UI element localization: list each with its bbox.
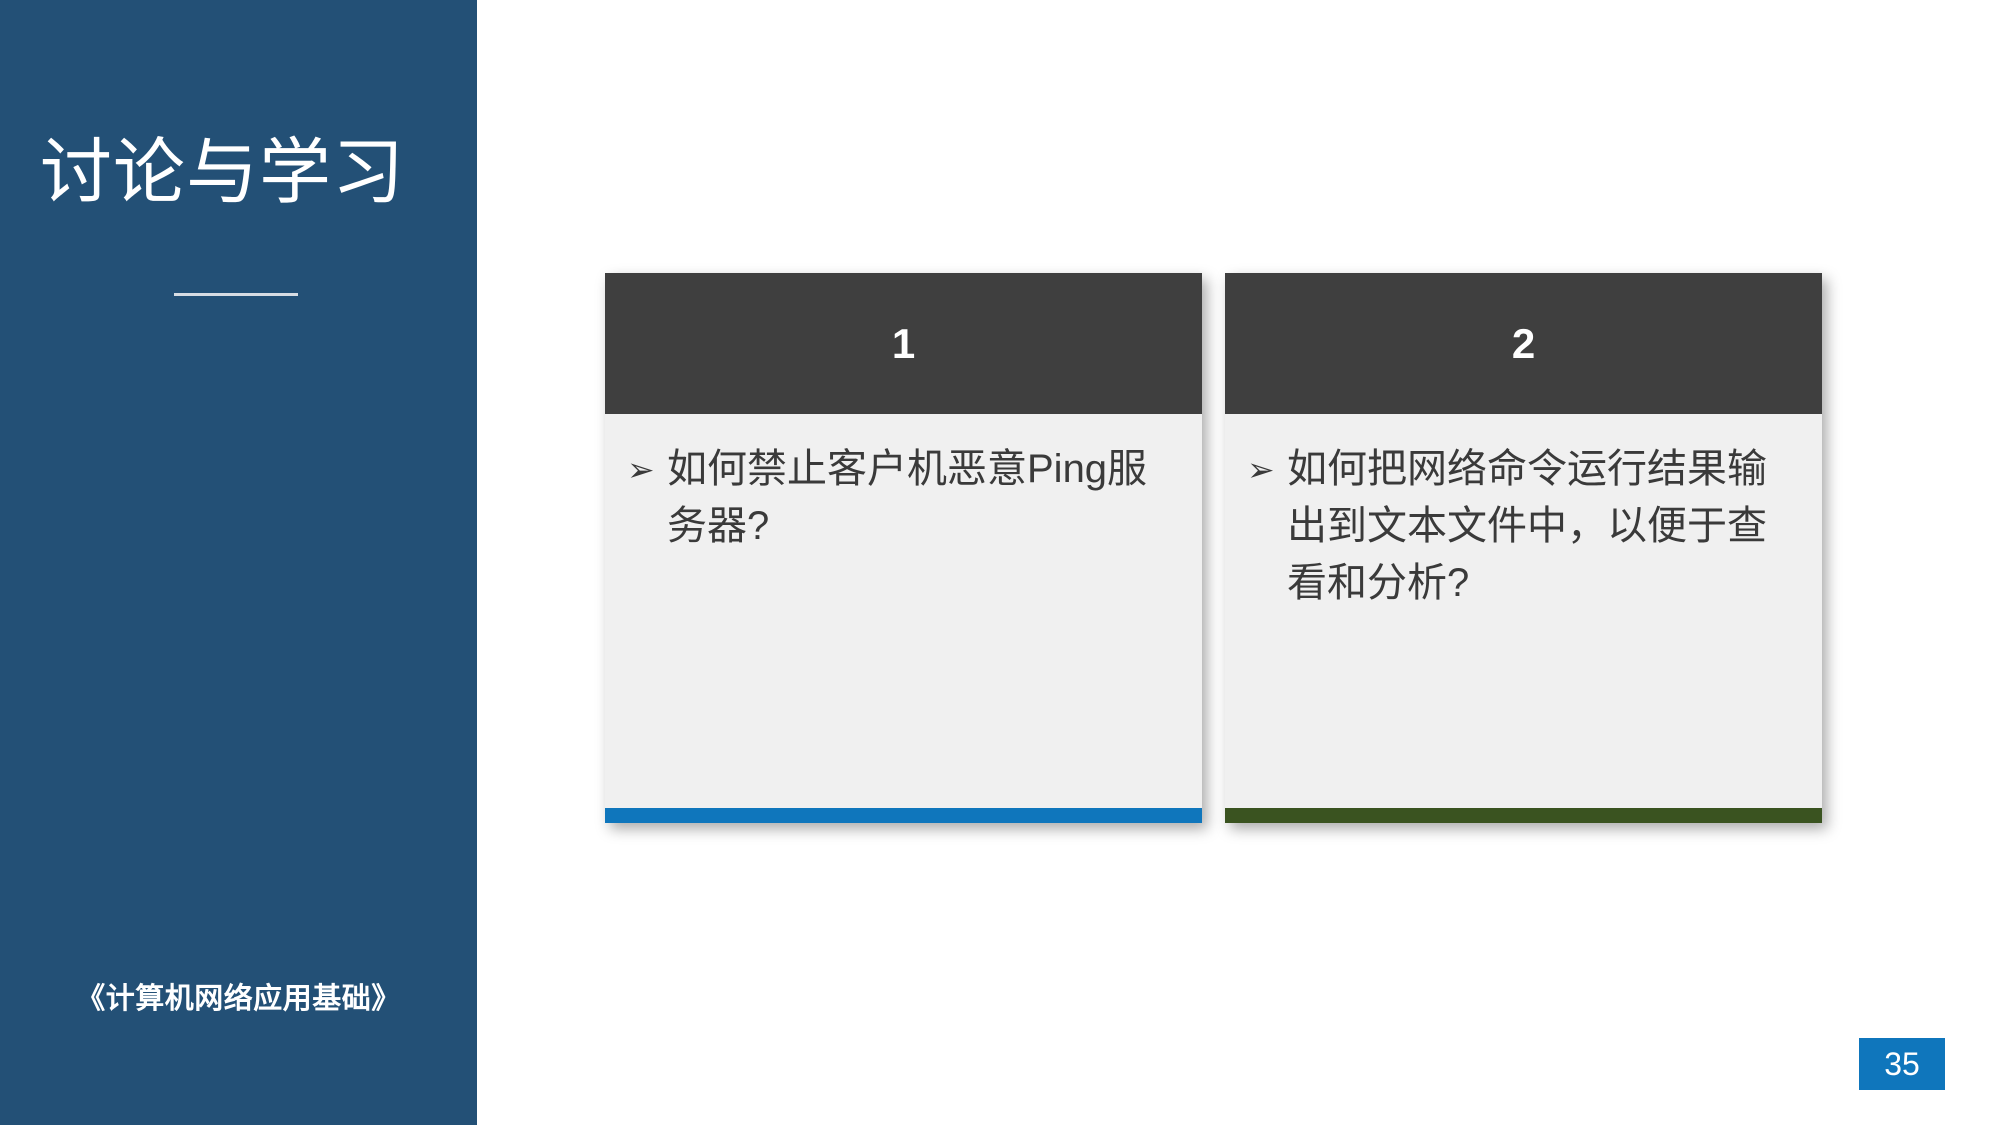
page-title: 讨论与学习 [40,132,440,214]
card-1-body: ➢ 如何禁止客户机恶意Ping服务器? [605,414,1202,808]
arrow-bullet-icon: ➢ [1247,441,1287,498]
question-cards-container: 1 ➢ 如何禁止客户机恶意Ping服务器? 2 ➢ 如何把网络命令运行结果输出到… [605,273,1825,823]
title-divider [174,293,298,296]
course-name-footer: 《计算机网络应用基础》 [0,975,477,1017]
presentation-slide: 讨论与学习 《计算机网络应用基础》 1 ➢ 如何禁止客户机恶意Ping服务器? … [0,0,1999,1125]
card-1-question-text: 如何禁止客户机恶意Ping服务器? [667,441,1180,555]
sidebar-panel: 讨论与学习 《计算机网络应用基础》 [0,0,477,1125]
page-number-badge: 35 [1859,1038,1945,1090]
card-2-bullet-row: ➢ 如何把网络命令运行结果输出到文本文件中，以便于查看和分析? [1247,441,1800,612]
card-2-body: ➢ 如何把网络命令运行结果输出到文本文件中，以便于查看和分析? [1225,414,1822,808]
card-1-header: 1 [605,273,1202,414]
card-2-accent-bar [1225,808,1822,823]
card-1-bullet-row: ➢ 如何禁止客户机恶意Ping服务器? [627,441,1180,555]
card-2-question-text: 如何把网络命令运行结果输出到文本文件中，以便于查看和分析? [1287,441,1800,612]
card-1-accent-bar [605,808,1202,823]
card-1-number: 1 [892,323,915,365]
question-card-2[interactable]: 2 ➢ 如何把网络命令运行结果输出到文本文件中，以便于查看和分析? [1225,273,1822,823]
question-card-1[interactable]: 1 ➢ 如何禁止客户机恶意Ping服务器? [605,273,1202,823]
arrow-bullet-icon: ➢ [627,441,667,498]
card-2-number: 2 [1512,323,1535,365]
card-2-header: 2 [1225,273,1822,414]
